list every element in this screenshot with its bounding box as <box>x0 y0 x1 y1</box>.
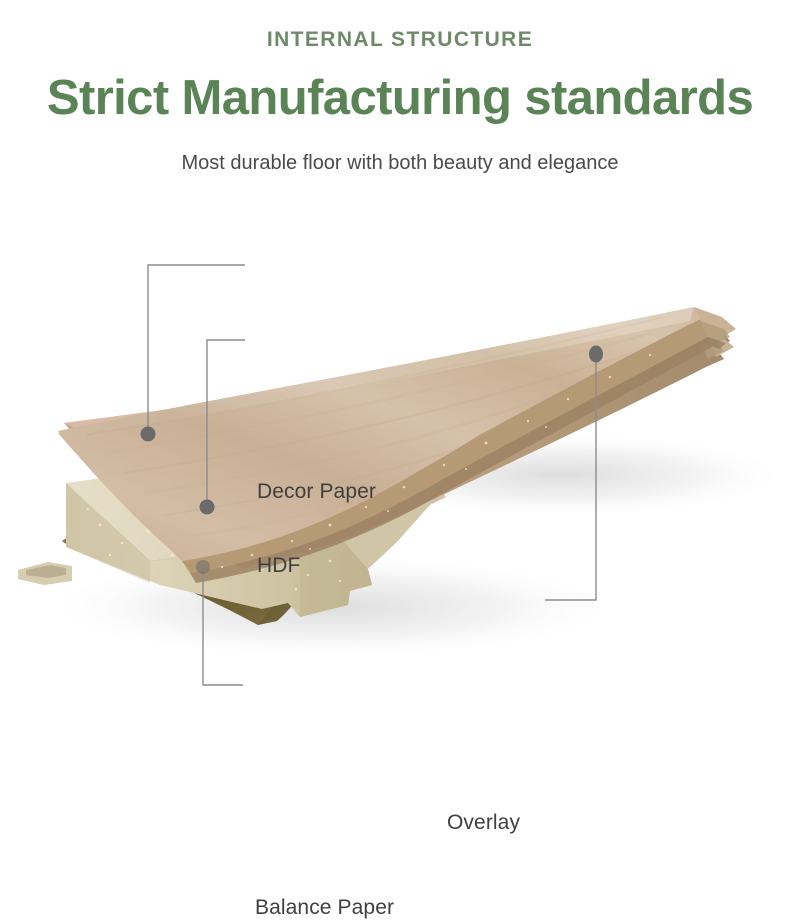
page-header: INTERNAL STRUCTURE Strict Manufacturing … <box>0 0 800 175</box>
leader-dot-decor-paper <box>141 427 156 442</box>
flooring-diagram-svg <box>0 225 800 730</box>
page-subtitle: Most durable floor with both beauty and … <box>0 125 800 175</box>
flooring-structure-diagram: Decor Paper HDF Overlay Balance Paper <box>0 225 800 730</box>
callout-label-decor-paper: Decor Paper <box>257 480 376 504</box>
callout-label-balance-paper: Balance Paper <box>255 896 394 920</box>
eyebrow-text: INTERNAL STRUCTURE <box>0 0 800 52</box>
callout-label-overlay: Overlay <box>447 811 520 835</box>
page-title: Strict Manufacturing standards <box>0 52 800 125</box>
leader-dot-balance-paper <box>196 560 210 574</box>
callout-label-hdf: HDF <box>257 554 300 578</box>
leader-dot-overlay <box>589 346 603 363</box>
internal-structure-page: INTERNAL STRUCTURE Strict Manufacturing … <box>0 0 800 730</box>
leader-dot-hdf <box>200 500 215 515</box>
